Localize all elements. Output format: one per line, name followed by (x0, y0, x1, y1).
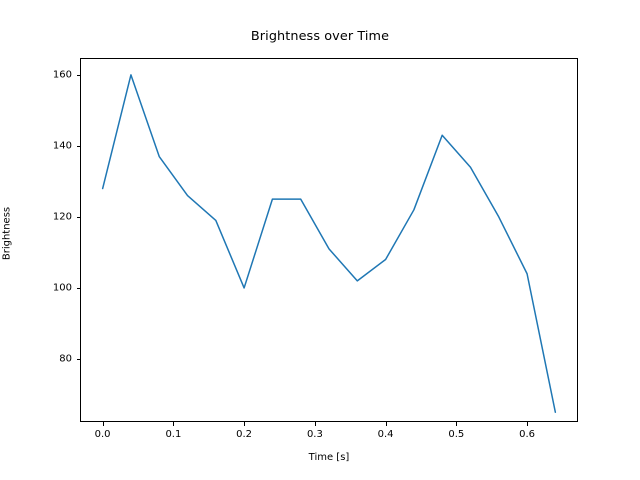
x-tick-label: 0.2 (214, 429, 274, 440)
x-tick-mark (386, 422, 387, 426)
x-tick-mark (103, 422, 104, 426)
y-tick-label: 140 (12, 140, 72, 151)
x-tick-label: 0.6 (497, 429, 557, 440)
x-tick-label: 0.5 (426, 429, 486, 440)
brightness-line (103, 75, 556, 412)
y-tick-labels: 80100120140160 (8, 0, 72, 480)
y-tick-mark (77, 288, 81, 289)
x-axis-label: Time [s] (80, 452, 578, 463)
y-tick-label: 80 (12, 354, 72, 365)
x-tick-mark (456, 422, 457, 426)
x-tick-label: 0.3 (285, 429, 345, 440)
x-tick-mark (173, 422, 174, 426)
y-tick-mark (77, 217, 81, 218)
x-tick-label: 0.0 (73, 429, 133, 440)
y-tick-label: 120 (12, 211, 72, 222)
x-tick-label: 0.1 (143, 429, 203, 440)
x-tick-label: 0.4 (356, 429, 416, 440)
y-tick-mark (77, 146, 81, 147)
y-tick-mark (77, 359, 81, 360)
x-tick-mark (244, 422, 245, 426)
x-tick-mark (315, 422, 316, 426)
line-plot (80, 58, 578, 422)
chart-title: Brightness over Time (0, 29, 640, 44)
y-tick-label: 100 (12, 282, 72, 293)
figure-canvas: Brightness over Time 80100120140160 0.00… (0, 0, 640, 480)
x-tick-mark (527, 422, 528, 426)
y-axis-label: Brightness (2, 154, 13, 314)
y-tick-mark (77, 75, 81, 76)
y-tick-label: 160 (12, 69, 72, 80)
